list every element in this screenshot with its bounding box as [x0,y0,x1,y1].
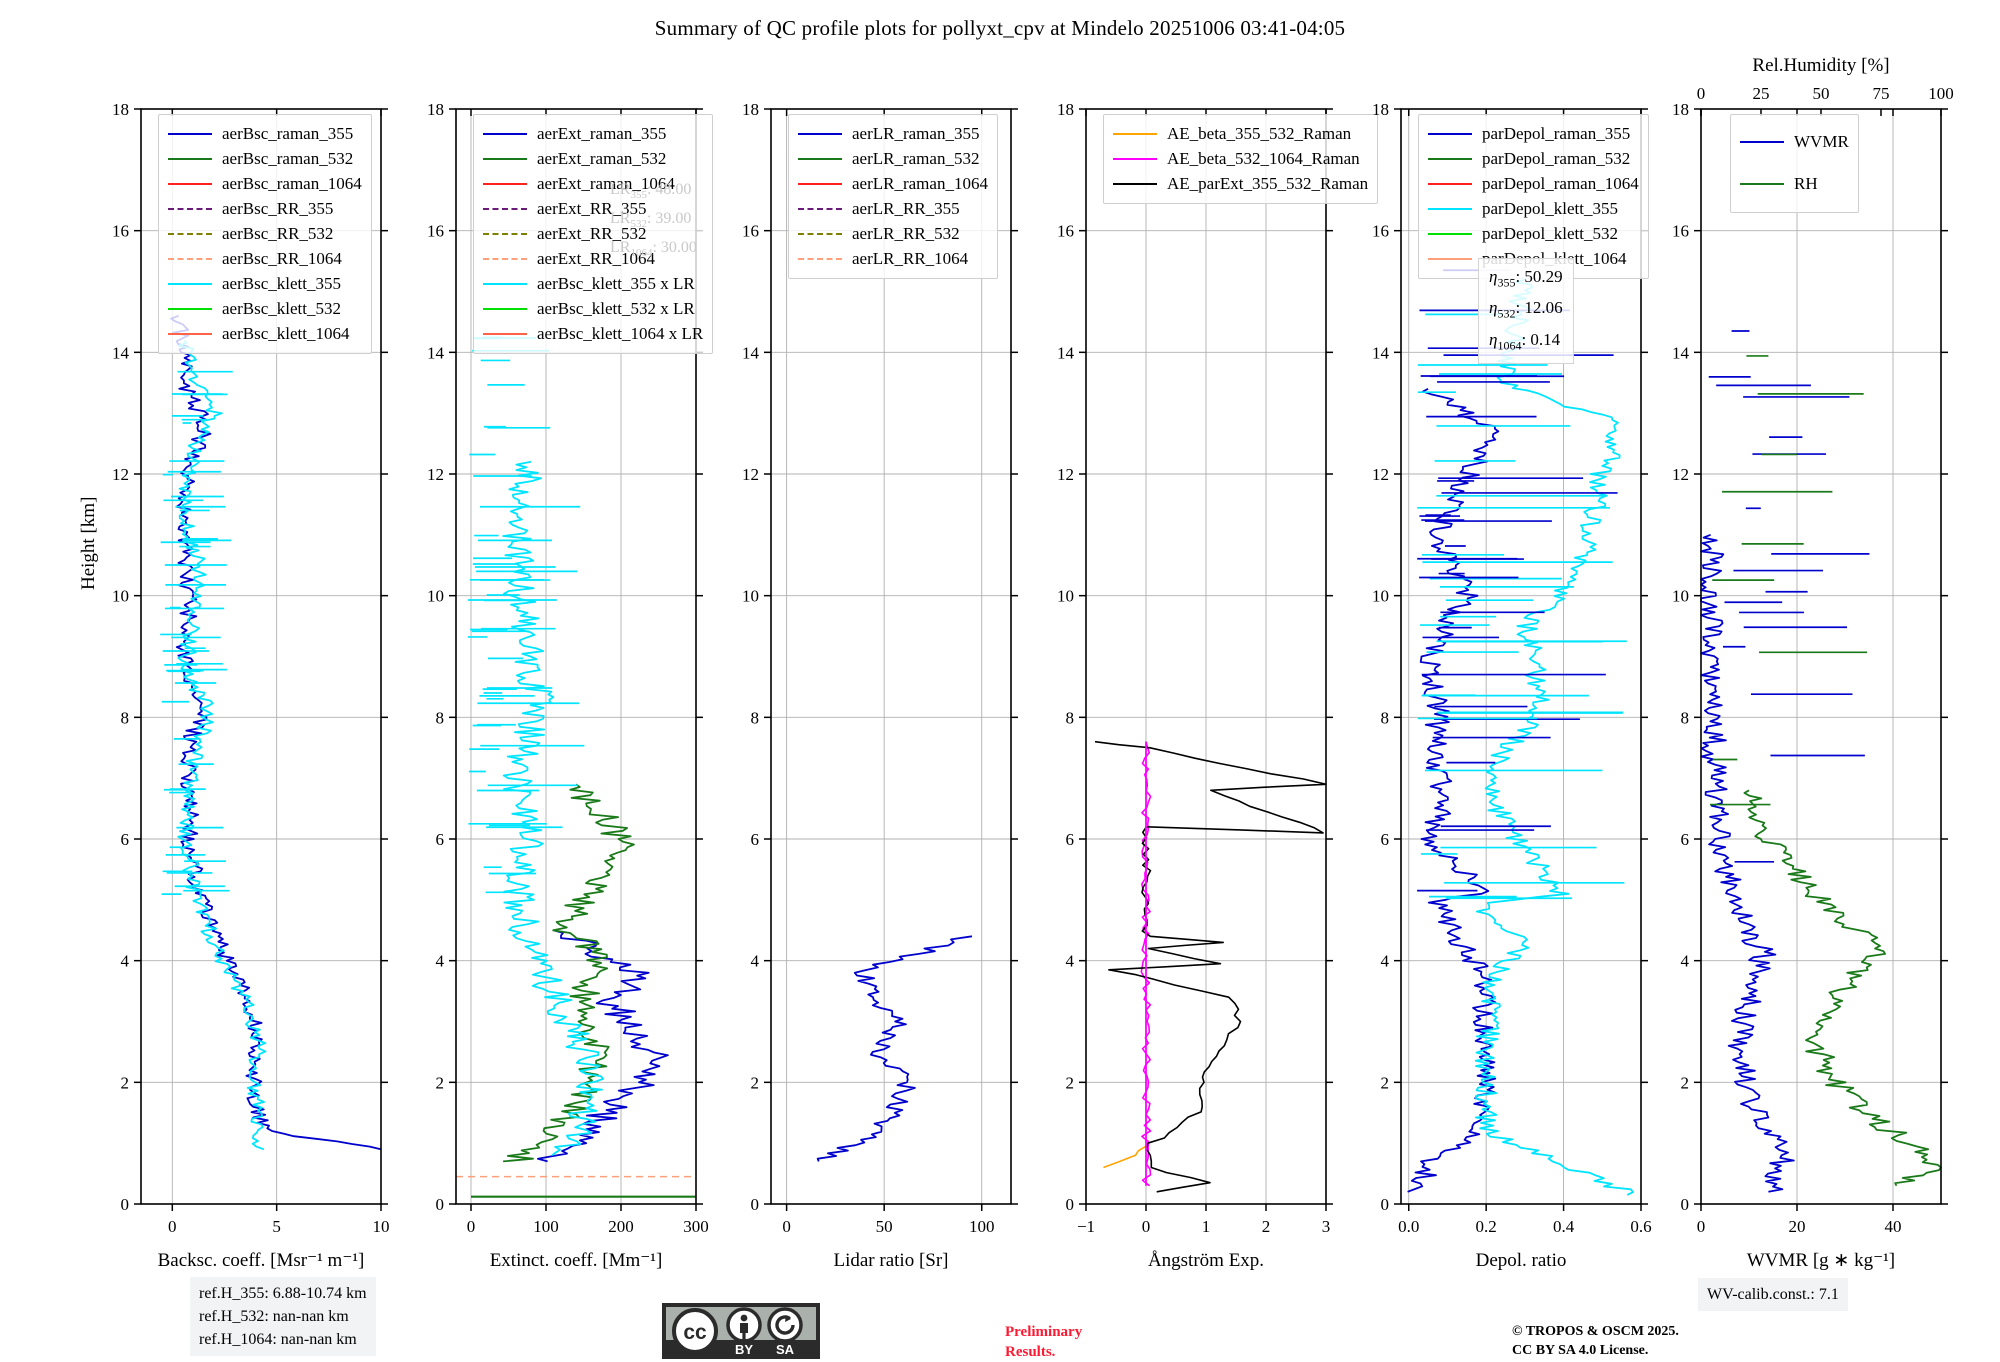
legend-item-label: parDepol_raman_355 [1482,124,1630,144]
legend-item-AE_beta_532_1064_Raman[interactable]: AE_beta_532_1064_Raman [1113,146,1368,171]
legend-item-label: aerBsc_RR_1064 [222,249,342,269]
lr-symbol: LR532: [610,210,655,227]
top-axis-label: Rel.Humidity [%] [1752,55,1889,76]
x-tick-label: 20 [1789,1217,1806,1236]
legend-item-label: aerBsc_RR_532 [222,224,333,244]
legend-item-label: aerBsc_raman_1064 [222,174,362,194]
legend-item-aerBsc_RR_532[interactable]: aerBsc_RR_532 [168,221,362,246]
y-tick-label: 0 [1381,1195,1390,1214]
top-tick-label: 100 [1928,84,1954,103]
legend-item-aerExt_raman_355[interactable]: aerExt_raman_355 [483,121,703,146]
x-tick-label: 200 [608,1217,634,1236]
legend-swatch-icon [798,158,842,160]
legend-item-aerBsc_klett_355 x LR[interactable]: aerBsc_klett_355 x LR [483,271,703,296]
y-tick-label: 2 [1681,1073,1690,1092]
legend-swatch-icon [483,283,527,285]
wv-calib-value: WV-calib.const.: 7.1 [1707,1283,1839,1306]
x-axis-label-depolarization: Depol. ratio [1476,1250,1567,1271]
legend-item-aerBsc_raman_1064[interactable]: aerBsc_raman_1064 [168,171,362,196]
legend-item-label: aerBsc_raman_532 [222,149,353,169]
y-tick-label: 14 [427,343,445,362]
legend-item-label: aerBsc_raman_355 [222,124,353,144]
y-tick-label: 0 [751,1195,760,1214]
y-tick-label: 10 [427,587,444,606]
y-tick-label: 8 [1681,708,1690,727]
legend-swatch-icon [1428,183,1472,185]
credit-line-1: © TROPOS & OSCM 2025. [1512,1322,1679,1341]
cc-sa-text: SA [776,1342,795,1357]
ref-height-box: ref.H_355: 6.88-10.74 km ref.H_532: nan-… [190,1277,376,1356]
legend-swatch-icon [798,133,842,135]
legend-depolarization: parDepol_raman_355parDepol_raman_532parD… [1418,114,1649,279]
preliminary-line-2: Results. [1005,1342,1082,1362]
legend-item-aerLR_raman_355[interactable]: aerLR_raman_355 [798,121,988,146]
legend-swatch-icon [798,208,842,210]
cc-badge-svg: cc BY SA [662,1303,820,1359]
legend-item-label: aerLR_RR_355 [852,199,960,219]
x-tick-label: 100 [969,1217,995,1236]
y-tick-label: 12 [1672,465,1689,484]
eta-value: 12.06 [1524,298,1562,317]
legend-swatch-icon [798,258,842,260]
legend-swatch-icon [1428,208,1472,210]
y-tick-label: 2 [1066,1073,1075,1092]
lidar-ratio-note: LR355: 48.00LR532: 39.00LR1064: 30.00 [610,178,697,266]
eta-symbol: η532: [1489,298,1524,317]
series-RH [1744,790,1941,1186]
plot-area-wvmr-rh: 02468101214161802040WVMR [g ∗ kg⁻¹]02550… [1700,108,1942,1205]
top-tick-label: 50 [1813,84,1830,103]
y-tick-label: 6 [436,830,445,849]
wv-calib-box: WV-calib.const.: 7.1 [1698,1278,1848,1311]
figure-title: Summary of QC profile plots for pollyxt_… [0,16,2000,41]
x-tick-label: 10 [373,1217,390,1236]
lr-symbol: LR355: [610,181,655,198]
legend-item-AE_parExt_355_532_Raman[interactable]: AE_parExt_355_532_Raman [1113,171,1368,196]
x-tick-label: 0.4 [1553,1217,1575,1236]
legend-swatch-icon [1428,233,1472,235]
legend-item-parDepol_raman_532[interactable]: parDepol_raman_532 [1428,146,1639,171]
legend-swatch-icon [1428,133,1472,135]
y-tick-label: 12 [427,465,444,484]
panel-backscatter: 0246810121416180510Backsc. coeff. [Msr⁻¹… [140,108,380,1218]
y-tick-label: 6 [751,830,760,849]
legend-swatch-icon [1113,133,1157,135]
y-tick-label: 16 [1372,222,1389,241]
lr-note-row: LR1064: 30.00 [610,236,697,265]
x-tick-label: 1 [1202,1217,1211,1236]
legend-swatch-icon [483,308,527,310]
x-axis-label-angstrom: Ångström Exp. [1148,1250,1264,1271]
legend-item-RH[interactable]: RH [1740,163,1849,205]
legend-item-aerLR_RR_355[interactable]: aerLR_RR_355 [798,196,988,221]
legend-item-label: aerBsc_klett_355 [222,274,341,294]
panel-depolarization: 0246810121416180.00.20.40.6Depol. ratiop… [1400,108,1640,1218]
legend-angstrom: AE_beta_355_532_RamanAE_beta_532_1064_Ra… [1103,114,1378,204]
x-axis-label-extinction: Extinct. coeff. [Mm⁻¹] [490,1250,663,1271]
y-tick-label: 10 [1372,587,1389,606]
y-tick-label: 10 [1672,587,1689,606]
eta-symbol: η1064: [1489,330,1530,349]
cc-glyph-text: cc [683,1321,707,1344]
y-tick-label: 4 [1681,952,1690,971]
legend-item-aerBsc_klett_532[interactable]: aerBsc_klett_532 [168,296,362,321]
eta-subscript: 355 [1497,275,1515,289]
series-aerLR_raman_355 [818,936,972,1161]
x-tick-label: 300 [683,1217,709,1236]
legend-item-aerBsc_RR_1064[interactable]: aerBsc_RR_1064 [168,246,362,271]
eta-note-row: η355: 50.29 [1489,264,1563,295]
legend-item-label: aerBsc_klett_1064 x LR [537,324,703,344]
y-tick-label: 8 [121,708,130,727]
legend-item-label: aerLR_RR_1064 [852,249,968,269]
y-tick-label: 12 [742,465,759,484]
legend-item-label: aerBsc_RR_355 [222,199,333,219]
legend-item-aerLR_raman_1064[interactable]: aerLR_raman_1064 [798,171,988,196]
y-tick-label: 12 [112,465,129,484]
y-tick-label: 14 [1672,343,1690,362]
y-axis-label: Height [km] [78,497,100,590]
legend-swatch-icon [798,233,842,235]
y-tick-label: 18 [742,100,759,119]
y-tick-label: 4 [121,952,130,971]
x-tick-label: 0 [168,1217,177,1236]
legend-item-aerBsc_raman_532[interactable]: aerBsc_raman_532 [168,146,362,171]
y-tick-label: 12 [1372,465,1389,484]
y-tick-label: 0 [1681,1195,1690,1214]
y-tick-label: 6 [121,830,130,849]
legend-item-aerLR_RR_532[interactable]: aerLR_RR_532 [798,221,988,246]
eta-note-row: η532: 12.06 [1489,295,1563,326]
legend-item-label: aerLR_raman_1064 [852,174,988,194]
legend-item-aerBsc_klett_355[interactable]: aerBsc_klett_355 [168,271,362,296]
lr-symbol: LR1064: [610,239,661,256]
y-tick-label: 16 [112,222,129,241]
legend-item-aerBsc_klett_532 x LR[interactable]: aerBsc_klett_532 x LR [483,296,703,321]
y-tick-label: 16 [742,222,759,241]
y-tick-label: 4 [1066,952,1075,971]
y-tick-label: 0 [436,1195,445,1214]
series-parDepol_raman_355 [1408,389,1499,1192]
x-tick-label: 0.2 [1476,1217,1497,1236]
legend-swatch-icon [483,333,527,335]
y-tick-label: 10 [1057,587,1074,606]
ref-height-1064: ref.H_1064: nan-nan km [199,1328,367,1351]
credit-line-2: CC BY SA 4.0 License. [1512,1341,1679,1360]
legend-item-label: AE_beta_532_1064_Raman [1167,149,1360,169]
legend-item-label: aerLR_raman_355 [852,124,979,144]
eta-subscript: 1064 [1497,338,1521,352]
x-tick-label: 50 [876,1217,893,1236]
legend-item-label: RH [1794,174,1818,194]
legend-swatch-icon [1113,183,1157,185]
legend-wvmr-rh: WVMRRH [1730,114,1859,213]
y-tick-label: 18 [427,100,444,119]
legend-item-parDepol_raman_1064[interactable]: parDepol_raman_1064 [1428,171,1639,196]
y-tick-label: 8 [1066,708,1075,727]
y-tick-label: 4 [436,952,445,971]
top-tick-label: 0 [1697,84,1706,103]
x-tick-label: 5 [272,1217,281,1236]
legend-item-label: aerExt_raman_355 [537,124,666,144]
x-axis-label-backscatter: Backsc. coeff. [Msr⁻¹ m⁻¹] [158,1250,365,1271]
x-tick-label: 0 [1142,1217,1151,1236]
y-tick-label: 16 [427,222,444,241]
y-tick-label: 8 [436,708,445,727]
lr-value: 39.00 [655,210,691,227]
legend-lidar-ratio: aerLR_raman_355aerLR_raman_532aerLR_rama… [788,114,998,279]
x-axis-label-wvmr-rh: WVMR [g ∗ kg⁻¹] [1747,1250,1895,1271]
x-tick-label: 0 [1697,1217,1706,1236]
eta-value: 50.29 [1524,267,1562,286]
y-tick-label: 10 [742,587,759,606]
y-tick-label: 2 [1381,1073,1390,1092]
x-tick-label: 3 [1322,1217,1331,1236]
legend-item-label: parDepol_raman_532 [1482,149,1630,169]
legend-swatch-icon [168,233,212,235]
legend-item-AE_beta_355_532_Raman[interactable]: AE_beta_355_532_Raman [1113,121,1368,146]
legend-item-label: aerExt_raman_532 [537,149,666,169]
panel-lidar-ratio: 024681012141618050100Lidar ratio [Sr]aer… [770,108,1010,1218]
ref-height-355: ref.H_355: 6.88-10.74 km [199,1282,367,1305]
eta-symbol: η355: [1489,267,1524,286]
y-tick-label: 16 [1672,222,1689,241]
legend-swatch-icon [1740,183,1784,185]
legend-swatch-icon [1428,158,1472,160]
legend-swatch-icon [1740,141,1784,143]
legend-swatch-icon [1113,158,1157,160]
legend-item-aerBsc_raman_355[interactable]: aerBsc_raman_355 [168,121,362,146]
legend-item-aerLR_raman_532[interactable]: aerLR_raman_532 [798,146,988,171]
legend-item-parDepol_klett_355[interactable]: parDepol_klett_355 [1428,196,1639,221]
eta-value: 0.14 [1530,330,1560,349]
legend-item-label: aerLR_raman_532 [852,149,979,169]
preliminary-line-1: Preliminary [1005,1322,1082,1342]
legend-item-label: aerBsc_klett_1064 [222,324,349,344]
legend-swatch-icon [168,158,212,160]
legend-backscatter: aerBsc_raman_355aerBsc_raman_532aerBsc_r… [158,114,372,354]
legend-item-parDepol_klett_532[interactable]: parDepol_klett_532 [1428,221,1639,246]
eta-subscript: 532 [1497,307,1515,321]
x-tick-label: 2 [1262,1217,1271,1236]
y-tick-label: 0 [1066,1195,1075,1214]
y-tick-label: 14 [1372,343,1390,362]
y-tick-label: 18 [1372,100,1389,119]
y-tick-label: 6 [1066,830,1075,849]
ref-height-532: ref.H_532: nan-nan km [199,1305,367,1328]
legend-swatch-icon [1428,258,1472,260]
series-WVMR [1701,535,1794,1192]
lr-value: 48.00 [655,181,691,198]
cc-license-badge: cc BY SA [662,1303,820,1359]
legend-swatch-icon [483,183,527,185]
lr-subscript: 1064 [630,248,652,260]
y-tick-label: 8 [1381,708,1390,727]
legend-swatch-icon [168,133,212,135]
y-tick-label: 10 [112,587,129,606]
x-tick-label: −1 [1077,1217,1095,1236]
y-tick-label: 14 [112,343,130,362]
legend-swatch-icon [168,258,212,260]
legend-item-label: aerBsc_klett_532 [222,299,341,319]
y-tick-label: 4 [1381,952,1390,971]
eta-note-box: η355: 50.29η532: 12.06η1064: 0.14 [1478,258,1574,364]
x-tick-label: 100 [533,1217,559,1236]
panel-extinction: 0246810121416180100200300Extinct. coeff.… [455,108,695,1218]
panel-angstrom: 024681012141618−10123Ångström Exp.AE_bet… [1085,108,1325,1218]
lr-value: 30.00 [661,239,697,256]
y-tick-label: 2 [436,1073,445,1092]
legend-swatch-icon [168,333,212,335]
legend-item-label: aerBsc_klett_532 x LR [537,299,695,319]
x-tick-label: 0.0 [1398,1217,1419,1236]
legend-item-label: parDepol_klett_532 [1482,224,1618,244]
legend-item-label: parDepol_raman_1064 [1482,174,1639,194]
y-tick-label: 18 [1672,100,1689,119]
legend-swatch-icon [483,258,527,260]
y-tick-label: 16 [1057,222,1074,241]
y-tick-label: 18 [1057,100,1074,119]
eta-note-row: η1064: 0.14 [1489,327,1563,358]
legend-item-aerBsc_klett_1064 x LR[interactable]: aerBsc_klett_1064 x LR [483,321,703,346]
legend-swatch-icon [168,308,212,310]
x-tick-label: 0.6 [1630,1217,1651,1236]
legend-item-label: aerBsc_klett_355 x LR [537,274,695,294]
lr-note-row: LR355: 48.00 [610,178,697,207]
legend-item-WVMR[interactable]: WVMR [1740,121,1849,163]
legend-item-parDepol_raman_355[interactable]: parDepol_raman_355 [1428,121,1639,146]
x-tick-label: 40 [1885,1217,1902,1236]
lr-subscript: 355 [630,189,647,201]
y-tick-label: 14 [1057,343,1075,362]
y-tick-label: 6 [1681,830,1690,849]
legend-item-aerBsc_klett_1064[interactable]: aerBsc_klett_1064 [168,321,362,346]
legend-item-label: aerLR_RR_532 [852,224,960,244]
lr-note-row: LR532: 39.00 [610,207,697,236]
series-aerBsc_klett_355 x LR [503,462,603,1156]
credit-notice: © TROPOS & OSCM 2025. CC BY SA 4.0 Licen… [1512,1322,1679,1360]
legend-item-aerExt_raman_532[interactable]: aerExt_raman_532 [483,146,703,171]
legend-swatch-icon [483,158,527,160]
legend-item-aerBsc_RR_355[interactable]: aerBsc_RR_355 [168,196,362,221]
y-tick-label: 12 [1057,465,1074,484]
top-tick-label: 25 [1753,84,1770,103]
y-tick-label: 14 [742,343,760,362]
series-AE_parExt_355_532_Raman [1095,742,1326,1192]
legend-swatch-icon [168,283,212,285]
legend-item-label: WVMR [1794,132,1849,152]
cc-by-text: BY [735,1342,753,1357]
legend-swatch-icon [168,208,212,210]
preliminary-notice: Preliminary Results. [1005,1322,1082,1362]
y-tick-label: 6 [1381,830,1390,849]
legend-item-label: AE_parExt_355_532_Raman [1167,174,1368,194]
legend-swatch-icon [483,133,527,135]
legend-swatch-icon [168,183,212,185]
x-tick-label: 0 [782,1217,791,1236]
legend-swatch-icon [798,183,842,185]
y-tick-label: 2 [751,1073,760,1092]
y-tick-label: 2 [121,1073,130,1092]
y-tick-label: 0 [121,1195,130,1214]
legend-item-aerLR_RR_1064[interactable]: aerLR_RR_1064 [798,246,988,271]
legend-swatch-icon [483,233,527,235]
legend-item-label: parDepol_klett_355 [1482,199,1618,219]
y-tick-label: 4 [751,952,760,971]
x-axis-label-lidar-ratio: Lidar ratio [Sr] [833,1250,948,1271]
legend-swatch-icon [483,208,527,210]
plot-area-angstrom: 024681012141618−10123Ångström Exp. [1085,108,1327,1205]
lr-subscript: 532 [630,218,647,230]
legend-item-label: AE_beta_355_532_Raman [1167,124,1351,144]
panel-wvmr-rh: 02468101214161802040WVMR [g ∗ kg⁻¹]02550… [1700,108,1940,1218]
y-tick-label: 8 [751,708,760,727]
x-tick-label: 0 [467,1217,476,1236]
series-AE_beta_355_532_Raman [1103,1146,1146,1167]
top-tick-label: 75 [1873,84,1890,103]
y-tick-label: 18 [112,100,129,119]
